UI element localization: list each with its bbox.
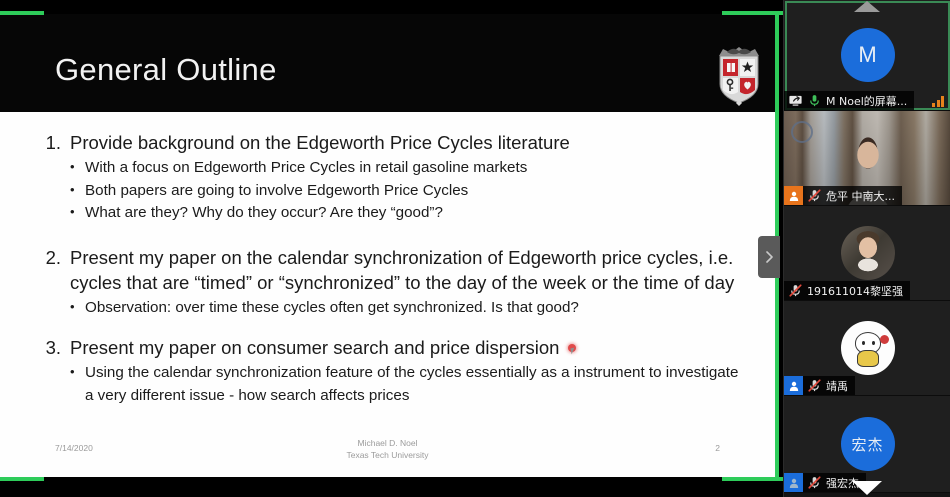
outline-text-2: Present my paper on the calendar synchro…: [70, 245, 745, 295]
footer-author-block: Michael D. Noel Texas Tech University: [0, 437, 775, 461]
mic-muted-icon: [807, 188, 822, 203]
footer-page-number: 2: [715, 443, 720, 453]
outline-number-2: 2.: [36, 245, 70, 295]
participant-namebar: M Noel的屏幕...: [784, 91, 914, 110]
person-icon: [784, 473, 803, 492]
outline-number-1: 1.: [36, 130, 70, 155]
shared-screen-region: General Outline: [0, 0, 783, 497]
person-glyph: [788, 380, 800, 392]
chevron-right-icon: [764, 250, 775, 264]
sketch-accent-dot: [880, 335, 889, 344]
outline-sublist-3: Using the calendar synchronization featu…: [36, 362, 745, 407]
mic-muted-icon: [807, 378, 822, 393]
participant-name: 靖禹: [822, 378, 848, 394]
share-border-top-left: [0, 11, 44, 15]
slide-footer: 7/14/2020 Michael D. Noel Texas Tech Uni…: [0, 431, 775, 477]
outline-sublist-2: Observation: over time these cycles ofte…: [36, 297, 745, 320]
participant-tile-lijianqiang[interactable]: 191611014黎坚强: [784, 206, 950, 301]
laser-pointer-cursor: [568, 344, 577, 355]
person-icon: [784, 376, 803, 395]
signal-strength-icon: [932, 95, 944, 107]
avatar: [841, 321, 895, 375]
participant-tile-weiping[interactable]: 危平 中南大...: [784, 111, 950, 206]
person-icon: [784, 186, 803, 205]
participant-tile-jingyu[interactable]: 靖禹: [784, 301, 950, 396]
participant-name: 危平 中南大...: [822, 188, 895, 204]
sketch-eye-left: [862, 341, 865, 345]
page-title: General Outline: [55, 52, 277, 88]
person-glyph: [788, 190, 800, 202]
mic-on-icon: [807, 93, 822, 108]
spacer: [36, 225, 745, 245]
outline-item-3: 3. Present my paper on consumer search a…: [36, 335, 745, 360]
participant-name: M Noel的屏幕...: [822, 93, 907, 109]
outline-sublist-1: With a focus on Edgeworth Price Cycles i…: [36, 157, 745, 225]
collapse-panel-button[interactable]: [758, 236, 780, 278]
participant-namebar: 191611014黎坚强: [784, 281, 910, 300]
avatar: 宏杰: [841, 417, 895, 471]
outline-bullet-1-1: With a focus on Edgeworth Price Cycles i…: [68, 157, 745, 180]
share-border-bottom-right: [722, 477, 783, 481]
person-glyph: [788, 477, 800, 489]
texas-tech-shield-icon: [713, 44, 765, 106]
outline-text-1: Provide background on the Edgeworth Pric…: [70, 130, 745, 155]
share-border-top-right: [722, 11, 783, 15]
zoom-meeting-window: General Outline: [0, 0, 950, 497]
avatar-initial: 宏杰: [851, 434, 883, 455]
mic-muted-icon: [807, 475, 822, 490]
sketch-body: [857, 350, 879, 367]
outline-text-3: Present my paper on consumer search and …: [70, 337, 559, 358]
outline-bullet-1-2: Both papers are going to involve Edgewor…: [68, 180, 745, 203]
spacer: [36, 319, 745, 335]
participant-name: 191611014黎坚强: [803, 283, 903, 299]
participant-tile-m-noel[interactable]: M M Noel的屏幕...: [784, 0, 950, 111]
scroll-up-arrow[interactable]: [854, 1, 880, 12]
mic-muted-icon: [788, 283, 803, 298]
avatar: M: [841, 28, 895, 82]
outline-item-1: 1. Provide background on the Edgeworth P…: [36, 130, 745, 155]
slide-header: General Outline: [0, 14, 775, 112]
avatar: [841, 226, 895, 280]
participant-video-strip[interactable]: M M Noel的屏幕...: [783, 0, 950, 497]
outline-number-3: 3.: [36, 335, 70, 360]
outline-bullet-2-1: Observation: over time these cycles ofte…: [68, 297, 745, 320]
participant-namebar: 危平 中南大...: [784, 186, 902, 205]
participant-namebar: 靖禹: [784, 376, 855, 395]
outline-bullet-1-3: What are they? Why do they occur? Are th…: [68, 202, 745, 225]
avatar-initial: M: [858, 42, 876, 68]
presentation-slide: General Outline: [0, 14, 775, 477]
slide-body: 1. Provide background on the Edgeworth P…: [0, 112, 775, 477]
footer-author: Michael D. Noel: [0, 437, 775, 449]
outline-item-2: 2. Present my paper on the calendar sync…: [36, 245, 745, 295]
scroll-down-arrow[interactable]: [852, 481, 882, 495]
background-decor: [791, 121, 813, 143]
footer-affiliation: Texas Tech University: [0, 449, 775, 461]
participant-tile-qianghongjie[interactable]: 宏杰 强宏杰: [784, 396, 950, 493]
outline-bullet-3-1: Using the calendar synchronization featu…: [68, 362, 745, 407]
screen-share-icon: [788, 93, 803, 108]
sketch-eye-right: [872, 341, 875, 345]
share-border-bottom-left: [0, 477, 44, 481]
